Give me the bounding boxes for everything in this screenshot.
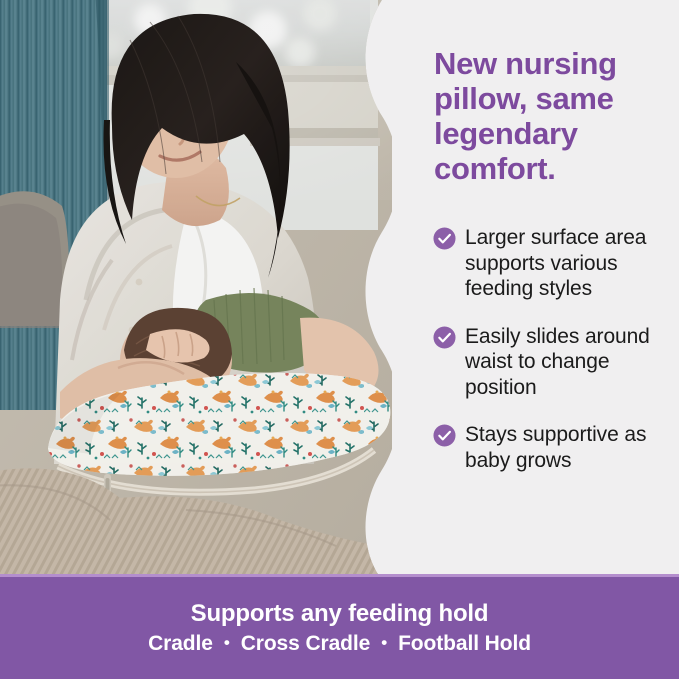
list-item: Easily slides around waist to change pos… [433,324,673,401]
list-item-label: Larger surface area supports various fee… [465,225,673,302]
feature-list: Larger surface area supports various fee… [433,225,673,473]
banner-title: Supports any feeding hold [191,600,489,628]
banner-hold-list: Cradle • Cross Cradle • Football Hold [148,632,531,656]
hold-cradle: Cradle [148,632,213,656]
list-item: Larger surface area supports various fee… [433,225,673,302]
page-title: New nursing pillow, same legendary comfo… [434,46,666,186]
hold-cross-cradle: Cross Cradle [241,632,371,656]
photo-illustration [0,0,400,580]
check-circle-icon [433,326,456,349]
check-circle-icon [433,227,456,250]
hold-football: Football Hold [398,632,531,656]
feature-panel: New nursing pillow, same legendary comfo… [392,0,679,580]
list-item-label: Stays supportive as baby grows [465,422,673,473]
check-circle-icon [433,424,456,447]
list-item: Stays supportive as baby grows [433,422,673,473]
list-item-label: Easily slides around waist to change pos… [465,324,673,401]
feeding-hold-banner: Supports any feeding hold Cradle • Cross… [0,577,679,679]
bullet-separator-icon: • [381,634,387,651]
product-feature-card: New nursing pillow, same legendary comfo… [0,0,679,679]
lifestyle-photo [0,0,400,580]
bullet-separator-icon: • [224,634,230,651]
